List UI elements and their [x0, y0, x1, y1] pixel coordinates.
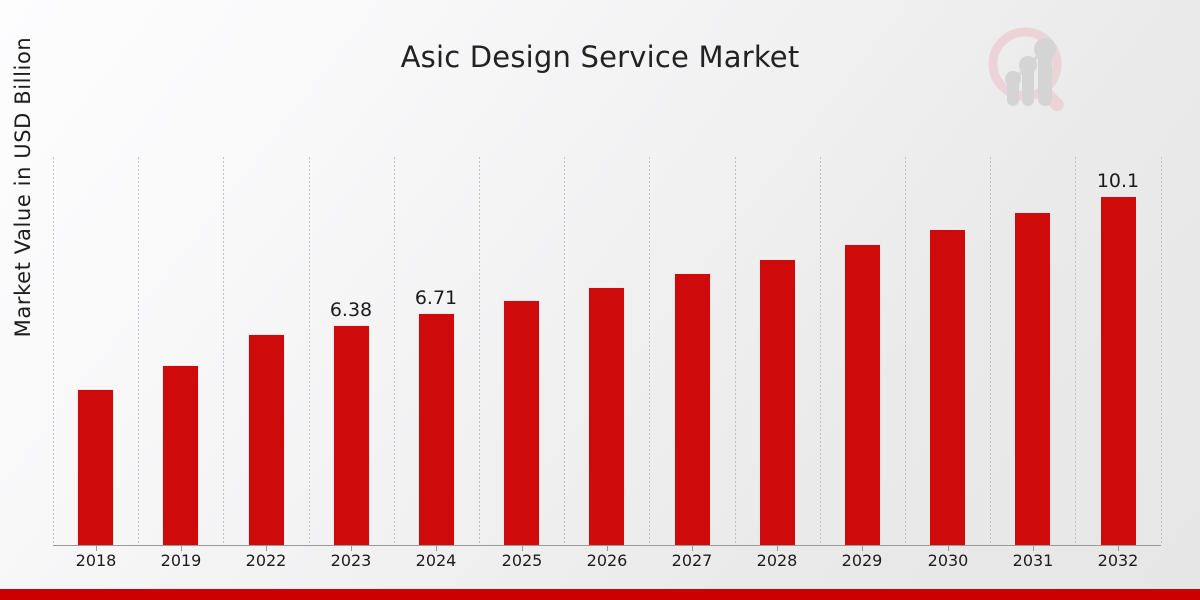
x-axis-tick-label: 2022: [231, 551, 301, 570]
gridline: [649, 157, 650, 545]
gridline: [1161, 157, 1162, 545]
bar-value-label: 6.38: [316, 299, 386, 321]
x-axis-tick-label: 2030: [913, 551, 983, 570]
plot-area: [53, 157, 1160, 545]
gridline: [564, 157, 565, 545]
bar-value-label: 10.1: [1083, 170, 1153, 192]
gridline: [309, 157, 310, 545]
chart-title: Asic Design Service Market: [0, 40, 1200, 74]
bar[interactable]: [77, 389, 114, 545]
gridline: [735, 157, 736, 545]
x-axis-tick-label: 2024: [401, 551, 471, 570]
x-axis-tick-label: 2018: [61, 551, 131, 570]
bar[interactable]: [674, 273, 711, 545]
gridline: [394, 157, 395, 545]
gridline: [138, 157, 139, 545]
chart-figure: Asic Design Service Market Market Value …: [0, 0, 1200, 600]
bar[interactable]: [1014, 212, 1051, 545]
gridline: [1075, 157, 1076, 545]
bottom-accent-band: [0, 589, 1200, 600]
bar[interactable]: [333, 325, 370, 545]
x-axis-tick-label: 2026: [572, 551, 642, 570]
bar[interactable]: [844, 244, 881, 545]
bar[interactable]: [929, 229, 966, 545]
bar[interactable]: [162, 365, 199, 545]
gridline: [53, 157, 54, 545]
bar[interactable]: [248, 334, 285, 545]
y-axis-title: Market Value in USD Billion: [11, 0, 35, 382]
gridline: [479, 157, 480, 545]
bar-value-label: 6.71: [401, 287, 471, 309]
gridline: [820, 157, 821, 545]
bar[interactable]: [588, 287, 625, 545]
x-axis-tick-label: 2028: [742, 551, 812, 570]
x-axis-tick-label: 2019: [146, 551, 216, 570]
x-axis-tick-label: 2023: [316, 551, 386, 570]
bar[interactable]: [1100, 196, 1137, 545]
x-axis-tick-label: 2025: [487, 551, 557, 570]
gridline: [905, 157, 906, 545]
bar[interactable]: [759, 259, 796, 545]
bar[interactable]: [418, 313, 455, 545]
x-axis-tick-label: 2029: [827, 551, 897, 570]
x-axis-tick-label: 2027: [657, 551, 727, 570]
x-axis-tick-label: 2031: [998, 551, 1068, 570]
gridline: [990, 157, 991, 545]
gridline: [223, 157, 224, 545]
x-axis-tick-label: 2032: [1083, 551, 1153, 570]
bar[interactable]: [503, 300, 540, 545]
